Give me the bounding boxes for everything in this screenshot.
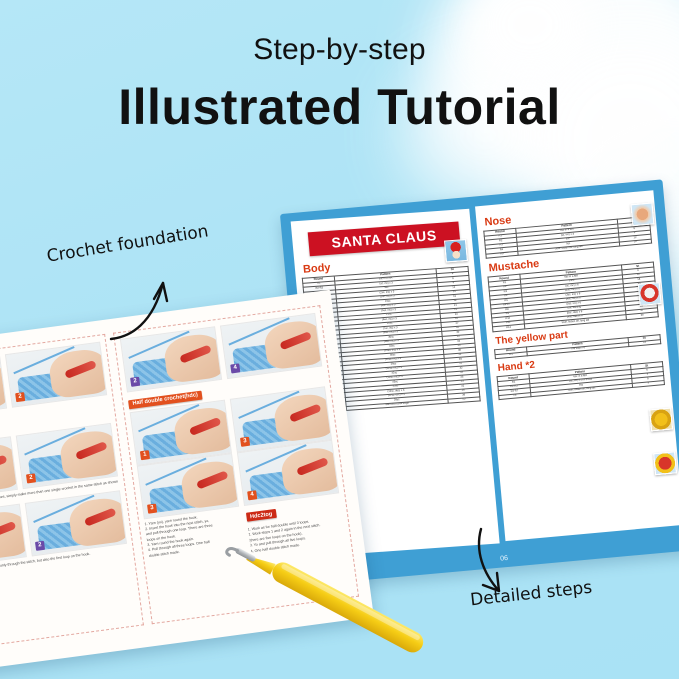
step-badge: 2 (35, 540, 45, 550)
step-photo: 2 (25, 490, 127, 556)
hand-thumbnail (653, 451, 677, 475)
crochet-steps-booklet: 1 2 2. Yarn round the hook again. Sc inc… (0, 290, 374, 677)
santa-figure-thumbnail (444, 239, 468, 262)
step-badge: 4 (230, 363, 240, 373)
pattern-page-right: Nose RoundPatternStR16sc in a MR6R2(sc, … (475, 190, 679, 541)
caption-block-hdc2tog: 1. Work as for half double until 3 loops… (247, 515, 345, 554)
mustache-thumbnail (638, 282, 662, 306)
step-photo: 2 (16, 423, 118, 489)
stitch-label-hdc2tog: Hdc2tog (245, 509, 276, 522)
step-photo: 2 (5, 342, 107, 408)
tutorial-page-right: 2 4 Half double crochet(hdc) 1 3 (113, 305, 359, 624)
step-badge: 3 (240, 436, 250, 446)
step-badge: 3 (147, 503, 157, 513)
yellow-part-thumbnail (649, 408, 673, 432)
santa-claus-banner: SANTA CLAUS (308, 222, 461, 257)
step-badge: 2 (15, 392, 25, 402)
step-badge: 2 (26, 473, 36, 483)
curved-arrow-up-icon (105, 265, 185, 345)
step-badge: 1 (140, 450, 150, 460)
step-photo: 4 (220, 313, 322, 379)
caption-block-hdc: 1. Yarn (yo), yarn round the hook.2. Ins… (144, 509, 245, 568)
scene: Step-by-step Illustrated Tutorial SANTA … (0, 0, 679, 679)
page-title: Illustrated Tutorial (0, 78, 679, 136)
open-booklet-paper: 1 2 2. Yarn round the hook again. Sc inc… (0, 290, 374, 677)
nose-thumbnail (630, 202, 654, 226)
table-cell: 45 (448, 397, 480, 404)
subtitle-text: Step-by-step (0, 33, 679, 67)
step-badge: 2 (130, 377, 140, 387)
curved-arrow-down-icon (455, 525, 535, 605)
step-badge: 4 (247, 490, 257, 500)
